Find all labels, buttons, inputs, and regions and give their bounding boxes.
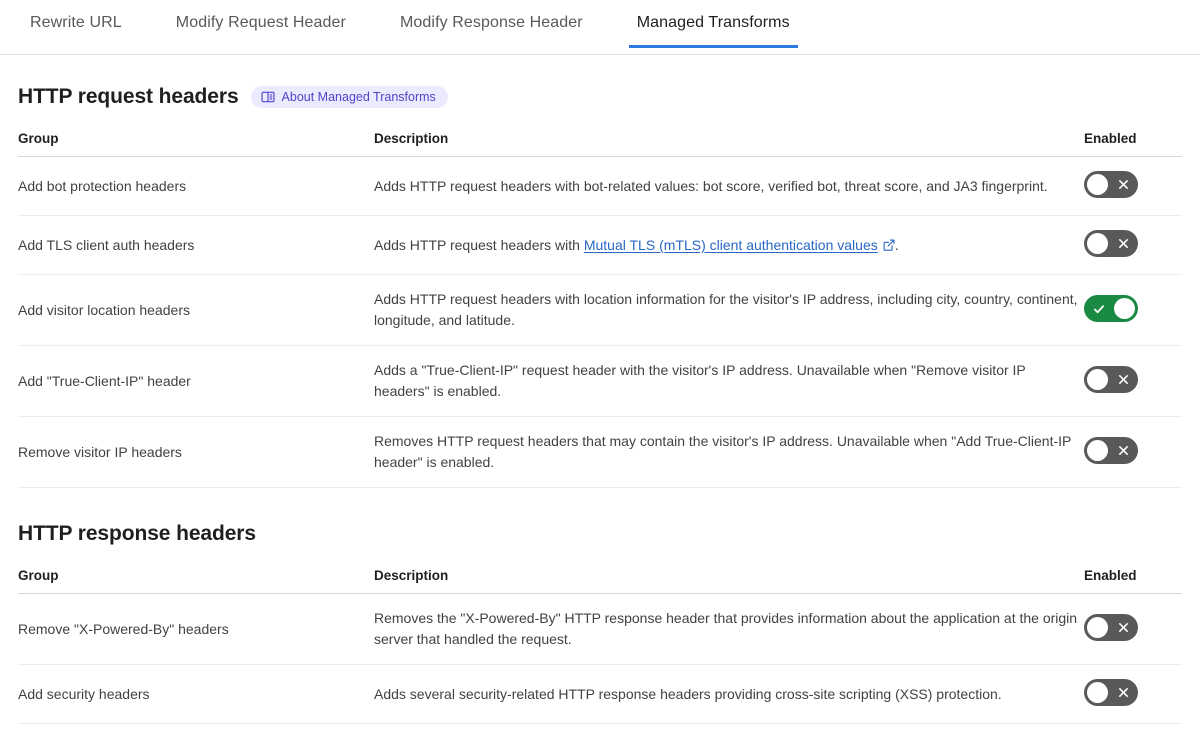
row-group-label: Add "True-Client-IP" header xyxy=(18,346,374,417)
close-icon xyxy=(1118,230,1129,257)
close-icon xyxy=(1118,679,1129,706)
close-icon xyxy=(1118,614,1129,641)
column-header-description: Description xyxy=(374,560,1084,594)
table-row: Add bot protection headers Adds HTTP req… xyxy=(18,157,1182,216)
table-row: Add visitor location headers Adds HTTP r… xyxy=(18,275,1182,346)
response-header-spacer xyxy=(18,546,1182,560)
enabled-toggle[interactable] xyxy=(1084,437,1138,464)
table-row: Add security headers Adds several securi… xyxy=(18,665,1182,724)
row-description: Adds HTTP request headers with bot-relat… xyxy=(374,157,1084,216)
toggle-knob xyxy=(1087,682,1108,703)
enabled-toggle[interactable] xyxy=(1084,230,1138,257)
tab-rewrite-url[interactable]: Rewrite URL xyxy=(30,0,122,48)
request-section-header: HTTP request headers About Managed Trans… xyxy=(18,85,1182,109)
row-enabled-cell xyxy=(1084,275,1182,346)
row-description: Adds several security-related HTTP respo… xyxy=(374,665,1084,724)
mtls-docs-link[interactable]: Mutual TLS (mTLS) client authentication … xyxy=(584,237,878,253)
enabled-toggle[interactable] xyxy=(1084,171,1138,198)
description-text-before: Adds HTTP request headers with xyxy=(374,237,584,253)
about-managed-transforms-badge[interactable]: About Managed Transforms xyxy=(251,86,448,108)
toggle-knob xyxy=(1087,174,1108,195)
response-section-header: HTTP response headers xyxy=(18,522,1182,546)
close-icon xyxy=(1118,437,1129,464)
column-header-group: Group xyxy=(18,123,374,157)
tab-label: Modify Request Header xyxy=(176,14,346,31)
row-description: Removes HTTP request headers that may co… xyxy=(374,417,1084,488)
table-row: Remove visitor IP headers Removes HTTP r… xyxy=(18,417,1182,488)
about-badge-label: About Managed Transforms xyxy=(282,90,436,104)
http-request-headers-section: HTTP request headers About Managed Trans… xyxy=(0,85,1200,488)
tab-label: Managed Transforms xyxy=(637,14,790,31)
row-enabled-cell xyxy=(1084,417,1182,488)
row-enabled-cell xyxy=(1084,346,1182,417)
row-group-label: Add bot protection headers xyxy=(18,157,374,216)
row-group-label: Remove "X-Powered-By" headers xyxy=(18,594,374,665)
table-header-row: Group Description Enabled xyxy=(18,123,1182,157)
top-spacer xyxy=(0,55,1200,85)
toggle-knob xyxy=(1087,440,1108,461)
request-section-title: HTTP request headers xyxy=(18,85,239,109)
column-header-group: Group xyxy=(18,560,374,594)
column-header-enabled: Enabled xyxy=(1084,560,1182,594)
column-header-description: Description xyxy=(374,123,1084,157)
response-section-title: HTTP response headers xyxy=(18,522,256,546)
enabled-toggle[interactable] xyxy=(1084,295,1138,322)
column-header-enabled: Enabled xyxy=(1084,123,1182,157)
http-response-headers-section: HTTP response headers Group Description … xyxy=(0,522,1200,724)
tab-bar: Rewrite URL Modify Request Header Modify… xyxy=(0,0,1200,55)
external-link-icon[interactable] xyxy=(883,239,895,251)
row-description: Adds HTTP request headers with Mutual TL… xyxy=(374,216,1084,275)
section-spacer xyxy=(0,488,1200,522)
close-icon xyxy=(1118,366,1129,393)
table-header-row: Group Description Enabled xyxy=(18,560,1182,594)
tab-managed-transforms[interactable]: Managed Transforms xyxy=(637,0,790,48)
row-enabled-cell xyxy=(1084,157,1182,216)
toggle-knob xyxy=(1114,298,1135,319)
request-header-spacer xyxy=(18,109,1182,123)
toggle-knob xyxy=(1087,617,1108,638)
enabled-toggle[interactable] xyxy=(1084,679,1138,706)
close-icon xyxy=(1118,171,1129,198)
row-enabled-cell xyxy=(1084,594,1182,665)
tab-label: Rewrite URL xyxy=(30,14,122,31)
row-description: Adds a "True-Client-IP" request header w… xyxy=(374,346,1084,417)
description-text-after: . xyxy=(895,237,899,253)
enabled-toggle[interactable] xyxy=(1084,614,1138,641)
table-row: Add "True-Client-IP" header Adds a "True… xyxy=(18,346,1182,417)
enabled-toggle[interactable] xyxy=(1084,366,1138,393)
row-group-label: Remove visitor IP headers xyxy=(18,417,374,488)
row-group-label: Add TLS client auth headers xyxy=(18,216,374,275)
row-group-label: Add visitor location headers xyxy=(18,275,374,346)
row-enabled-cell xyxy=(1084,216,1182,275)
toggle-knob xyxy=(1087,233,1108,254)
toggle-knob xyxy=(1087,369,1108,390)
tab-modify-request-header[interactable]: Modify Request Header xyxy=(176,0,346,48)
table-row: Remove "X-Powered-By" headers Removes th… xyxy=(18,594,1182,665)
row-description: Removes the "X-Powered-By" HTTP response… xyxy=(374,594,1084,665)
row-description: Adds HTTP request headers with location … xyxy=(374,275,1084,346)
table-row: Add TLS client auth headers Adds HTTP re… xyxy=(18,216,1182,275)
tab-modify-response-header[interactable]: Modify Response Header xyxy=(400,0,583,48)
book-icon xyxy=(261,90,275,104)
row-group-label: Add security headers xyxy=(18,665,374,724)
check-icon xyxy=(1093,295,1105,322)
request-headers-table: Group Description Enabled Add bot protec… xyxy=(18,123,1182,488)
row-enabled-cell xyxy=(1084,665,1182,724)
tab-label: Modify Response Header xyxy=(400,14,583,31)
response-headers-table: Group Description Enabled Remove "X-Powe… xyxy=(18,560,1182,724)
